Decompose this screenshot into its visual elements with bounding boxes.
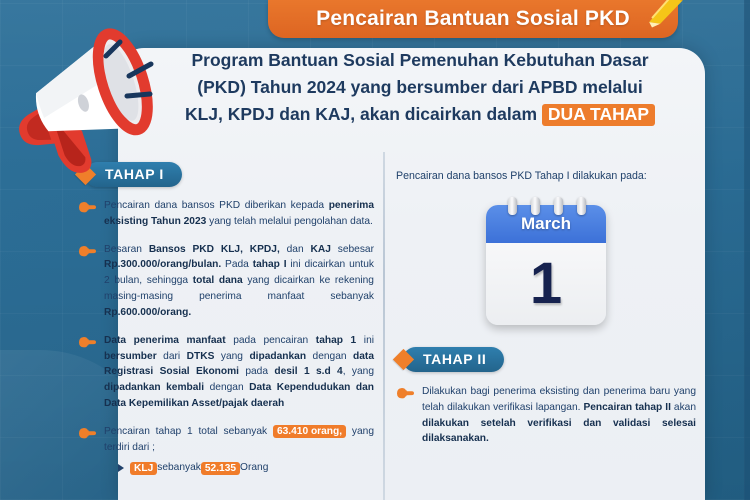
bullet-icon: [78, 333, 104, 412]
bullet-item: Dilakukan bagi penerima eksisting dan pe…: [396, 384, 696, 447]
bullet-item: Data penerima manfaat pada pencairan tah…: [78, 333, 374, 412]
sub-list: KLJ sebanyak 52.135 Orang: [118, 460, 374, 476]
bullet-text: Dilakukan bagi penerima eksisting dan pe…: [422, 384, 696, 447]
bullet-text: Pencairan dana bansos PKD diberikan kepa…: [104, 198, 374, 230]
headline-line-1: Program Bantuan Sosial Pemenuhan Kebutuh…: [150, 47, 690, 74]
banner-title: Pencairan Bantuan Sosial PKD: [316, 7, 630, 31]
triangle-bullet-icon: [118, 464, 124, 472]
bullet-text: Pencairan tahap 1 total sebanyak 63.410 …: [104, 424, 374, 476]
right-intro-text: Pencairan dana bansos PKD Tahap I dilaku…: [396, 168, 696, 185]
pointing-hand-icon: [78, 200, 98, 217]
dua-tahap-highlight: DUA TAHAP: [542, 104, 655, 127]
sub-suffix-text: Orang: [240, 460, 268, 476]
tahap-2-badge: TAHAP II: [396, 347, 696, 372]
headline: Program Bantuan Sosial Pemenuhan Kebutuh…: [150, 47, 690, 127]
calendar-ring: [577, 197, 586, 215]
calendar-ring: [508, 197, 517, 215]
column-divider: [383, 152, 385, 500]
calendar-day: 1: [486, 243, 606, 325]
highlight-chip: 63.410 orang,: [273, 425, 346, 438]
pointing-hand-icon: [396, 386, 416, 403]
calendar-icon: March 1: [486, 197, 606, 325]
right-bullet-list: Dilakukan bagi penerima eksisting dan pe…: [396, 384, 696, 447]
sub-mid-text: sebanyak: [157, 460, 201, 476]
pointing-hand-icon: [78, 244, 98, 261]
headline-line-2: (PKD) Tahun 2024 yang bersumber dari APB…: [150, 74, 690, 101]
bullet-icon: [78, 424, 104, 476]
bullet-item: Besaran Bansos PKD KLJ, KPDJ, dan KAJ se…: [78, 242, 374, 321]
sub-list-item: KLJ sebanyak 52.135 Orang: [118, 460, 374, 476]
headline-line-3-text: KLJ, KPDJ dan KAJ, akan dicairkan dalam: [185, 104, 537, 124]
bullet-icon: [78, 198, 104, 230]
sub-value-chip: 52.135: [201, 462, 240, 475]
tahap-2-label: TAHAP II: [403, 347, 504, 372]
bullet-icon: [396, 384, 422, 447]
sub-label-chip: KLJ: [130, 462, 157, 475]
bullet-icon: [78, 242, 104, 321]
bullet-text: Besaran Bansos PKD KLJ, KPDJ, dan KAJ se…: [104, 242, 374, 321]
bullet-text: Data penerima manfaat pada pencairan tah…: [104, 333, 374, 412]
right-edge-shade: [744, 0, 750, 500]
right-column: Pencairan dana bansos PKD Tahap I dilaku…: [396, 168, 696, 459]
megaphone-icon: [0, 18, 171, 183]
headline-line-3: KLJ, KPDJ dan KAJ, akan dicairkan dalam …: [150, 101, 690, 128]
pointing-hand-icon: [78, 335, 98, 352]
calendar-month: March: [521, 214, 571, 234]
bullet-item: Pencairan tahap 1 total sebanyak 63.410 …: [78, 424, 374, 476]
left-bullet-list: Pencairan dana bansos PKD diberikan kepa…: [78, 198, 374, 476]
header-banner: Pencairan Bantuan Sosial PKD: [268, 0, 678, 38]
pointing-hand-icon: [78, 426, 98, 443]
calendar-ring: [531, 197, 540, 215]
bullet-item: Pencairan dana bansos PKD diberikan kepa…: [78, 198, 374, 230]
calendar-header: March: [486, 205, 606, 243]
calendar-ring: [554, 197, 563, 215]
calendar-body: March 1: [486, 205, 606, 325]
left-column: TAHAP I Pencairan dana bansos PKD diberi…: [78, 162, 374, 488]
